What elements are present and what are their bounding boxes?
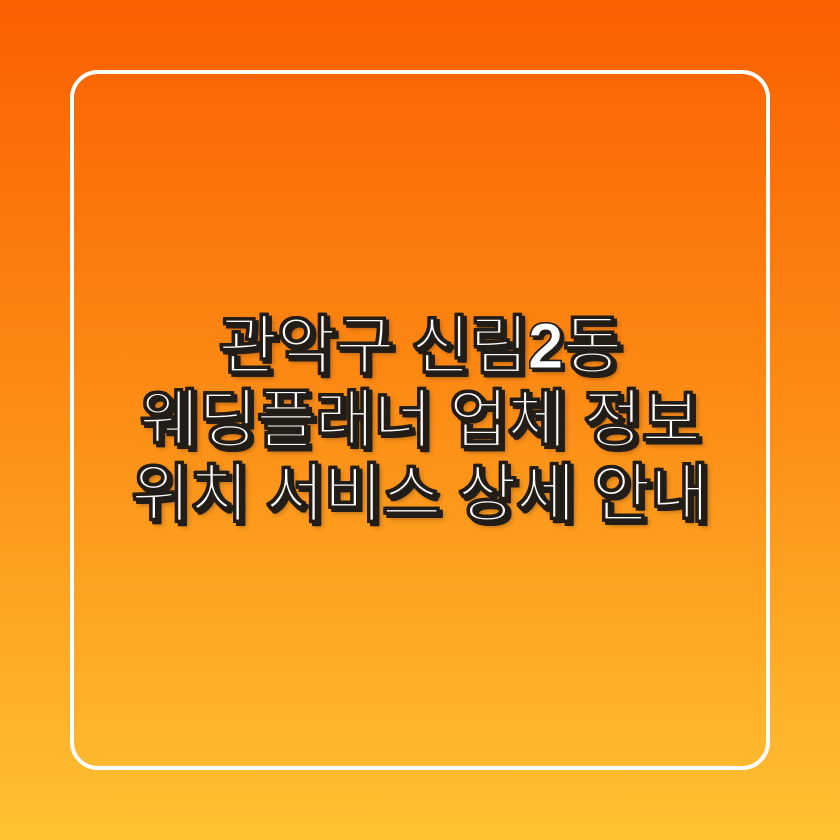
headline-line-2: 웨딩플래너 업체 정보 bbox=[60, 383, 780, 457]
poster-canvas: 관악구 신림2동 웨딩플래너 업체 정보 위치 서비스 상세 안내 bbox=[0, 0, 840, 840]
headline-line-1: 관악구 신림2동 bbox=[60, 309, 780, 383]
headline-block: 관악구 신림2동 웨딩플래너 업체 정보 위치 서비스 상세 안내 bbox=[0, 309, 840, 531]
headline-line-3: 위치 서비스 상세 안내 bbox=[60, 457, 780, 531]
